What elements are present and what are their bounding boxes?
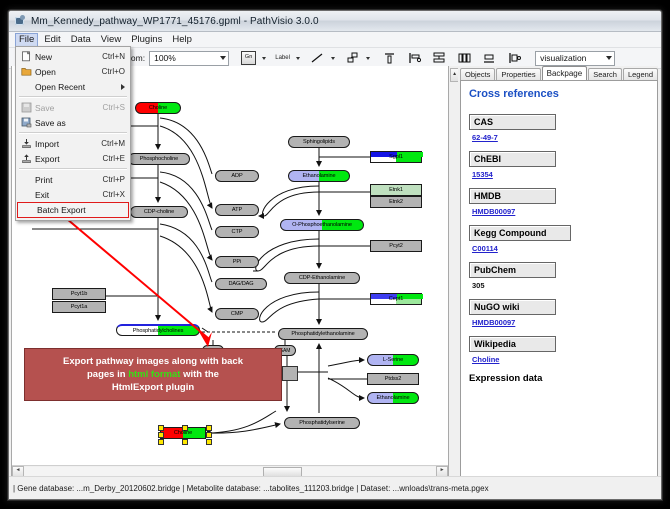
zoom-value: 100% — [154, 53, 176, 63]
xref-value[interactable]: HMDB00097 — [472, 207, 649, 216]
visualization-value: visualization — [540, 53, 586, 63]
pathway-node-ethanolamine-2[interactable]: Ethanolamine — [367, 392, 419, 404]
import-icon — [18, 138, 35, 149]
node-label: Etnk1 — [389, 187, 403, 193]
xref-source-label: Kegg Compound — [469, 225, 571, 241]
common-width-icon — [483, 52, 496, 64]
xref-value[interactable]: HMDB00097 — [472, 318, 649, 327]
pathway-node-pcyt2[interactable]: Pcyt2 — [370, 240, 422, 252]
annotation-line2-prefix: pages in — [87, 369, 128, 380]
xref-source-label: Wikipedia — [469, 336, 556, 352]
pathway-node-phosphocholine[interactable]: Phosphocholine — [128, 153, 190, 165]
line-icon — [311, 52, 324, 64]
side-panel-tabs: Objects Properties Backpage Search Legen… — [458, 66, 658, 80]
node-label: DAG/DAG — [228, 281, 253, 287]
menu-item-accelerator: Ctrl+E — [103, 154, 130, 163]
file-menu-dropdown: New Ctrl+N Open Ctrl+O Open Recent Save … — [15, 46, 131, 221]
pathway-node-ptdss2[interactable]: Ptdss2 — [367, 373, 419, 385]
xref-source-label: HMDB — [469, 188, 556, 204]
visualization-combobox[interactable]: visualization — [535, 51, 615, 66]
label-dropdown-icon[interactable] — [296, 57, 300, 60]
pathvisio-app-icon — [14, 15, 26, 27]
menu-help[interactable]: Help — [168, 33, 196, 47]
node-label: Phosphatidylethanolamine — [291, 331, 354, 337]
menu-item-accelerator: Ctrl+S — [103, 103, 130, 112]
desktop-background: Mm_Kennedy_pathway_WP1771_45176.gpml - P… — [0, 0, 670, 509]
open-folder-icon — [18, 66, 35, 77]
menu-item-export[interactable]: Export Ctrl+E — [16, 151, 130, 166]
side-panel: Objects Properties Backpage Search Legen… — [458, 66, 658, 477]
node-label: Phosphatidylserine — [299, 420, 344, 426]
tab-properties[interactable]: Properties — [496, 68, 540, 80]
node-label: Choline — [174, 430, 192, 436]
distribute-icon — [458, 52, 471, 64]
status-bar-text: | Gene database: ...m_Derby_20120602.bri… — [13, 484, 489, 493]
new-document-icon — [18, 51, 35, 62]
node-label: Etnk2 — [389, 199, 403, 205]
stack-icon — [433, 52, 446, 64]
node-label: CTP — [232, 229, 243, 235]
submenu-arrow-icon — [121, 84, 125, 90]
xref-link[interactable]: 15354 — [472, 170, 493, 179]
menu-item-new[interactable]: New Ctrl+N — [16, 49, 130, 64]
node-label: Sgpl1 — [389, 154, 403, 160]
node-label: CDP-Ethanolamine — [299, 275, 345, 281]
menu-item-label: Exit — [35, 190, 103, 200]
menu-file[interactable]: File — [15, 33, 38, 47]
pathway-node-ctp[interactable]: CTP — [215, 226, 259, 238]
xref-hmdb: HMDB HMDB00097 — [469, 188, 649, 216]
pathway-node-adp[interactable]: ADP — [215, 170, 259, 182]
menu-item-import[interactable]: Import Ctrl+M — [16, 136, 130, 151]
node-label: Phosphocholine — [140, 156, 178, 162]
pathway-node-atp[interactable]: ATP — [215, 204, 259, 216]
label-tool[interactable]: Label — [275, 51, 290, 66]
node-label: Phosphatidylcholines — [133, 328, 184, 334]
common-height-icon — [508, 52, 521, 64]
pathway-node-choline-top[interactable]: Choline — [135, 102, 181, 114]
menu-item-label: Open Recent — [35, 82, 121, 92]
node-label: PPi — [233, 259, 241, 265]
node-label: Pcyt1b — [71, 291, 88, 297]
expression-data-heading: Expression data — [469, 373, 649, 384]
title-bar: Mm_Kennedy_pathway_WP1771_45176.gpml - P… — [9, 11, 661, 32]
pathway-node-cdp-choline[interactable]: CDP-choline — [130, 206, 188, 218]
menu-view[interactable]: View — [97, 33, 125, 47]
node-label: CDP-choline — [144, 209, 174, 215]
menu-data[interactable]: Data — [67, 33, 95, 47]
menu-item-open-recent[interactable]: Open Recent — [16, 79, 130, 94]
pathway-node-sphingolipids[interactable]: Sphingolipids — [288, 136, 350, 148]
xref-pubchem: PubChem 305 — [469, 262, 649, 290]
menu-item-accelerator: Ctrl+P — [103, 175, 130, 184]
menu-item-label: Batch Export — [37, 205, 128, 215]
receptor-dropdown-icon[interactable] — [366, 57, 370, 60]
xref-value[interactable]: Choline — [472, 355, 649, 364]
pathway-node-etnk2[interactable]: Etnk2 — [370, 196, 422, 208]
menu-separator — [19, 168, 127, 170]
pathway-node-ethanolamine-1[interactable]: Ethanolamine — [288, 170, 350, 182]
line-dropdown-icon[interactable] — [331, 57, 335, 60]
node-label: Sphingolipids — [303, 139, 335, 145]
xref-kegg-compound: Kegg Compound C00114 — [469, 225, 649, 253]
menu-item-print[interactable]: Print Ctrl+P — [16, 172, 130, 187]
gene-product-tool[interactable]: Gn — [241, 51, 256, 66]
scroll-right-icon[interactable]: ► — [436, 466, 448, 477]
align-top-tool[interactable] — [382, 51, 397, 66]
align-left-tool[interactable] — [407, 51, 422, 66]
pathway-node-etnk1[interactable]: Etnk1 — [370, 184, 422, 196]
align-left-icon — [408, 52, 421, 64]
line-tool[interactable] — [310, 51, 325, 66]
xref-value: 305 — [472, 281, 649, 290]
common-height-tool[interactable] — [507, 51, 522, 66]
gene-product-dropdown-icon[interactable] — [262, 57, 266, 60]
node-label: ATP — [232, 207, 242, 213]
tab-legend[interactable]: Legend — [623, 68, 658, 80]
node-label: Ptdss2 — [385, 376, 402, 382]
pathway-node-phosphatidylethanolamine[interactable]: Phosphatidylethanolamine — [278, 328, 368, 340]
status-bar: | Gene database: ...m_Derby_20120602.bri… — [9, 476, 661, 499]
receptor-shape-icon — [346, 52, 359, 64]
node-label: CMP — [231, 311, 243, 317]
menu-separator — [19, 96, 127, 98]
xref-source-label: PubChem — [469, 262, 556, 278]
xref-nugo-wiki: NuGO wiki HMDB00097 — [469, 299, 649, 327]
gene-product-icon: Gn — [241, 51, 256, 65]
pathway-node-dag-dag[interactable]: DAG/DAG — [215, 278, 267, 290]
node-label: O-Phosphoethanolamine — [292, 222, 352, 228]
menu-separator — [19, 132, 127, 134]
menu-item-accelerator: Ctrl+O — [102, 67, 130, 76]
node-label: Pcyt2 — [389, 243, 403, 249]
pathway-node-cmp[interactable]: CMP — [215, 308, 259, 320]
node-label: Ethanolamine — [302, 173, 335, 179]
menu-item-label: Open — [35, 67, 102, 77]
annotation-line3: HtmlExport plugin — [112, 382, 194, 393]
scrollbar-track[interactable] — [24, 467, 436, 476]
menu-edit[interactable]: Edit — [40, 33, 64, 47]
menu-item-save: Save Ctrl+S — [16, 100, 130, 115]
pathway-node-pcyt1b[interactable]: Pcyt1b — [52, 288, 106, 300]
xref-cas: CAS 62-49-7 — [469, 114, 649, 142]
menu-item-label: Save as — [35, 118, 125, 128]
export-icon — [18, 153, 35, 164]
chevron-down-icon — [606, 56, 612, 60]
menu-item-label: Print — [35, 175, 103, 185]
xref-value[interactable]: C00114 — [472, 244, 649, 253]
menu-item-batch-export[interactable]: Batch Export — [17, 202, 129, 218]
common-width-tool[interactable] — [482, 51, 497, 66]
menu-item-save-as[interactable]: Save as — [16, 115, 130, 130]
xref-wikipedia: Wikipedia Choline — [469, 336, 649, 364]
xref-value[interactable]: 15354 — [472, 170, 649, 179]
annotation-highlight: html format — [128, 369, 180, 380]
pathway-node-ppi[interactable]: PPi — [215, 256, 259, 268]
annotation-line2-suffix: with the — [180, 369, 219, 380]
pathway-node-phosphatidylcholines[interactable]: Phosphatidylcholines — [116, 324, 200, 336]
menu-item-label: New — [35, 52, 102, 62]
tab-search[interactable]: Search — [588, 68, 622, 80]
menu-item-accelerator: Ctrl+M — [101, 139, 130, 148]
backpage-content: Cross references CAS 62-49-7 ChEBI 15354… — [460, 80, 658, 477]
node-label: Cept1 — [389, 296, 403, 302]
save-disk-icon — [18, 102, 35, 113]
save-as-icon — [18, 117, 35, 128]
align-top-icon — [383, 52, 396, 64]
node-label: Pcyt1a — [71, 304, 88, 310]
xref-source-label: NuGO wiki — [469, 299, 556, 315]
menu-plugins[interactable]: Plugins — [127, 33, 166, 47]
node-label: Choline — [149, 105, 167, 111]
pathway-node-choline-bottom[interactable]: Choline — [160, 427, 206, 439]
canvas-horizontal-scrollbar[interactable]: ◄ ► — [12, 465, 448, 476]
xref-source-label: ChEBI — [469, 151, 556, 167]
menu-item-accelerator: Ctrl+N — [102, 52, 130, 61]
pathway-node-o-phosphoethanolamine[interactable]: O-Phosphoethanolamine — [280, 219, 364, 231]
scroll-left-icon[interactable]: ◄ — [12, 466, 24, 477]
pathway-node-cdp-ethanolamine[interactable]: CDP-Ethanolamine — [284, 272, 360, 284]
node-label: L-Serine — [383, 357, 403, 363]
pathway-node-l-serine[interactable]: L-Serine — [367, 354, 419, 366]
node-label: Ethanolamine — [376, 395, 409, 401]
menu-item-label: Export — [35, 154, 103, 164]
chevron-down-icon — [220, 56, 226, 60]
stack-tool[interactable] — [432, 51, 447, 66]
menu-item-label: Save — [35, 103, 103, 113]
xref-link[interactable]: Choline — [472, 355, 500, 364]
xref-link[interactable]: 62-49-7 — [472, 133, 498, 142]
tab-backpage[interactable]: Backpage — [542, 66, 588, 80]
pathway-node-phosphatidylserine[interactable]: Phosphatidylserine — [284, 417, 360, 429]
xref-link[interactable]: HMDB00097 — [472, 207, 515, 216]
menu-item-accelerator: Ctrl+X — [103, 190, 130, 199]
pathway-node-pcyt1a[interactable]: Pcyt1a — [52, 301, 106, 313]
distribute-tool[interactable] — [457, 51, 472, 66]
xref-link[interactable]: HMDB00097 — [472, 318, 515, 327]
annotation-line1: Export pathway images along with back — [63, 356, 243, 367]
annotation-anchor — [282, 366, 298, 381]
xref-chebi: ChEBI 15354 — [469, 151, 649, 179]
splitter-gutter[interactable]: ▲ ▼ — [449, 66, 458, 477]
menu-item-label: Import — [35, 139, 101, 149]
menu-item-open[interactable]: Open Ctrl+O — [16, 64, 130, 79]
pathway-node-cept1[interactable]: Cept1 — [370, 293, 422, 305]
xref-link[interactable]: C00114 — [472, 244, 498, 253]
menu-item-exit[interactable]: Exit Ctrl+X — [16, 187, 130, 202]
xref-source-label: CAS — [469, 114, 556, 130]
zoom-combobox[interactable]: 100% — [149, 51, 229, 66]
application-window: Mm_Kennedy_pathway_WP1771_45176.gpml - P… — [8, 10, 662, 500]
label-icon: Label — [275, 55, 290, 61]
xref-value[interactable]: 62-49-7 — [472, 133, 649, 142]
window-title: Mm_Kennedy_pathway_WP1771_45176.gpml - P… — [31, 16, 319, 27]
node-label: ADP — [231, 173, 242, 179]
pathway-node-sgpl1[interactable]: Sgpl1 — [370, 151, 422, 163]
receptor-tool[interactable] — [345, 51, 360, 66]
cross-references-heading: Cross references — [469, 88, 649, 100]
tab-objects[interactable]: Objects — [460, 68, 495, 80]
annotation-callout: Export pathway images along with back pa… — [24, 348, 282, 401]
